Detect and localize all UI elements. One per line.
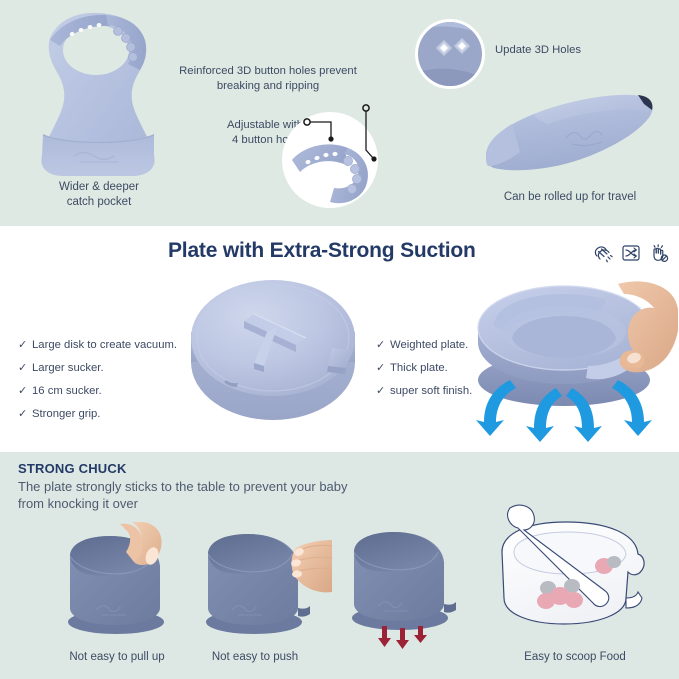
update-holes-label: Update 3D Holes <box>495 43 581 58</box>
strong-chuck-heading: STRONG CHUCK <box>18 461 127 476</box>
bowl-caption: Not easy to push <box>160 650 350 665</box>
bowl-scoop-food-illustration <box>486 504 656 644</box>
update-holes-art <box>418 22 482 86</box>
bottom-section-panel: STRONG CHUCK The plate strongly sticks t… <box>0 452 679 679</box>
bib-caption: Wider & deeper catch pocket <box>14 180 184 210</box>
feature-label: Stronger grip. <box>32 408 100 420</box>
check-icon: ✓ <box>376 384 390 397</box>
product-infographic: Wider & deeper catch pocket Reinforced 3… <box>0 0 679 679</box>
strap-zoom-circle <box>282 112 378 208</box>
check-icon: ✓ <box>18 384 32 397</box>
check-icon: ✓ <box>18 361 32 374</box>
update-holes-zoom-circle <box>415 19 485 89</box>
check-icon: ✓ <box>376 361 390 374</box>
feature-label: 16 cm sucker. <box>32 385 102 397</box>
bowl-caption: Easy to scoop Food <box>480 650 670 665</box>
feature-label: Large disk to create vacuum. <box>32 339 177 351</box>
section-title: Plate with Extra-Strong Suction <box>168 239 476 263</box>
reinforced-holes-callout: Reinforced 3D button holes prevent break… <box>168 64 368 94</box>
check-icon: ✓ <box>376 338 390 351</box>
feature-label: super soft finish. <box>390 385 472 397</box>
badge-icon-row <box>592 242 670 264</box>
bowl-pull-up-illustration <box>52 522 182 647</box>
suction-disk-illustration <box>188 264 358 434</box>
check-icon: ✓ <box>18 407 32 420</box>
feature-label: Larger sucker. <box>32 362 104 374</box>
roll-caption: Can be rolled up for travel <box>470 190 670 205</box>
feature-label: Weighted plate. <box>390 339 468 351</box>
top-section-panel: Wider & deeper catch pocket Reinforced 3… <box>0 0 679 226</box>
rolled-bib-illustration <box>480 90 670 180</box>
strap-zoom-art <box>282 112 378 208</box>
downward-force-arrows <box>378 626 427 649</box>
strong-chuck-body: The plate strongly sticks to the table t… <box>18 478 498 512</box>
non-slip-grip-icon <box>648 242 670 264</box>
plate-with-hand-illustration <box>468 274 678 452</box>
mid-section-panel: Plate with Extra-Strong Suction <box>0 226 679 452</box>
flexible-bendable-icon <box>620 242 642 264</box>
bib-illustration <box>14 8 184 183</box>
bowl-downforce-illustration <box>338 522 468 652</box>
bowl-push-illustration <box>192 522 332 647</box>
food-safe-silicone-icon <box>592 242 614 264</box>
check-icon: ✓ <box>18 338 32 351</box>
feature-label: Thick plate. <box>390 362 448 374</box>
